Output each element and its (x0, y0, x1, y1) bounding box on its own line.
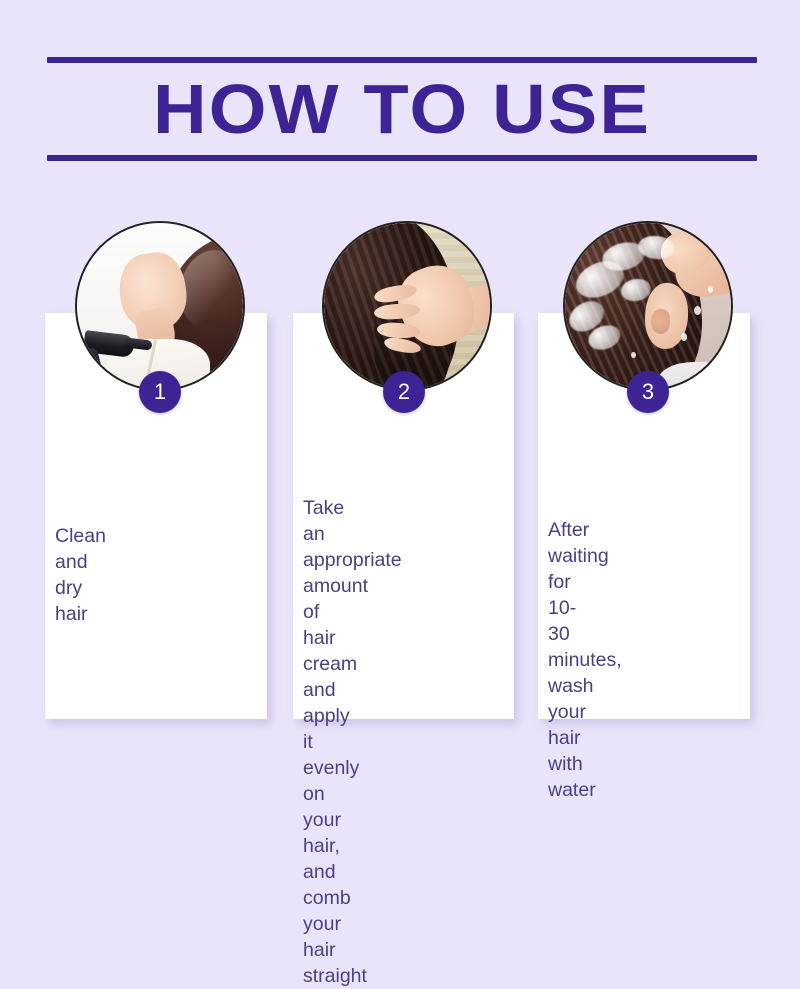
shoulder-shape (658, 362, 731, 389)
step-3-photo (563, 221, 733, 391)
step-caption-3: After waiting for 10-30 minutes, wash yo… (538, 517, 558, 803)
step-number-badge-2: 2 (383, 371, 425, 413)
steps-row: 1 Clean and dry hair 2 Tak (0, 0, 800, 800)
hairdryer-photo-icon (77, 223, 243, 389)
step-number-badge-1: 1 (139, 371, 181, 413)
water-droplet (681, 333, 687, 341)
how-to-use-poster: HOW TO USE 1 Clean and (0, 0, 800, 800)
water-droplet (708, 286, 713, 293)
hair-cream-photo-icon (324, 223, 490, 389)
step-1-photo (75, 221, 245, 391)
step-2-photo (322, 221, 492, 391)
step-number-badge-3: 3 (627, 371, 669, 413)
step-caption-2: Take an appropriate amount of hair cream… (293, 495, 313, 989)
ear-shape (651, 309, 669, 334)
hair-wash-photo-icon (565, 223, 731, 389)
step-caption-1: Clean and dry hair (45, 523, 65, 627)
